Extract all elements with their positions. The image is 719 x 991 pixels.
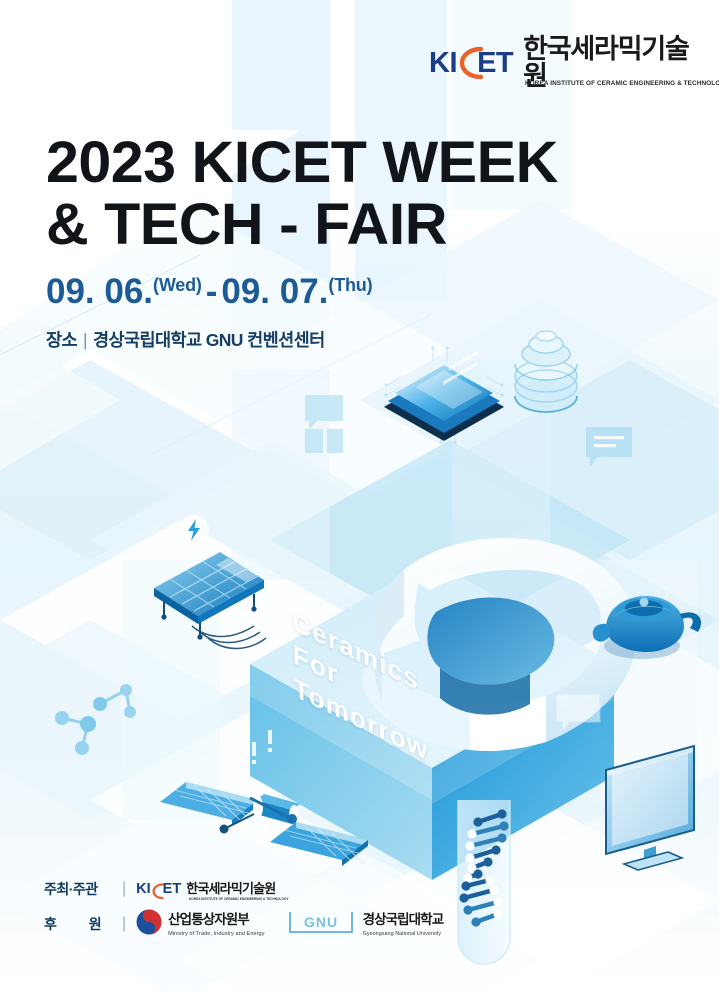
gnu-english: Gyeongsang National University bbox=[363, 931, 444, 937]
sponsor-footer: 주최·주관 | KI ET 한국세라믹기술원 KOREA INSTITUTE O… bbox=[44, 872, 684, 941]
motie-korean: 산업통상자원부 bbox=[168, 912, 249, 927]
kicet-logo: KI ET 한국세라믹기술원 KOREA INSTITUTE OF CERAMI… bbox=[429, 48, 691, 94]
kicet-footer-korean: 한국세라믹기술원 bbox=[186, 881, 275, 896]
kicet-logo-c-arc bbox=[457, 46, 480, 80]
motie-english: Ministry of Trade, Industry and Energy bbox=[168, 931, 264, 937]
kicet-logo-ki: KI bbox=[429, 49, 457, 78]
venue-line: 장소|경상국립대학교 GNU 컨벤션센터 bbox=[46, 327, 325, 352]
headline-line-1: 2023 KICET WEEK bbox=[46, 132, 699, 194]
date-dash: - bbox=[202, 272, 222, 311]
footer-separator-sponsor: | bbox=[122, 915, 126, 933]
date-end: 09. 07. bbox=[221, 272, 328, 311]
taegeuk-icon bbox=[136, 909, 162, 940]
poster-canvas: KI ET 한국세라믹기술원 KOREA INSTITUTE OF CERAMI… bbox=[0, 0, 719, 991]
gnu-mark-icon: GNU bbox=[287, 909, 355, 940]
date-end-day: (Thu) bbox=[328, 275, 372, 295]
gnu-logo: GNU 경상국립대학교 Gyeongsang National Universi… bbox=[287, 909, 444, 940]
kicet-logo-english: KOREA INSTITUTE OF CERAMIC ENGINEERING &… bbox=[525, 80, 691, 87]
venue-label: 장소 bbox=[46, 330, 77, 350]
gnu-korean: 경상국립대학교 bbox=[363, 912, 444, 927]
kicet-footer-logo: KI ET 한국세라믹기술원 bbox=[136, 880, 275, 898]
date-start: 09. 06. bbox=[46, 272, 153, 311]
svg-text:GNU: GNU bbox=[304, 914, 338, 930]
headline-line-2: & TECH - FAIR bbox=[46, 194, 699, 256]
venue-separator: | bbox=[77, 330, 93, 350]
footer-label-sponsor: 후 원 bbox=[44, 914, 122, 934]
page-title: 2023 KICET WEEK & TECH - FAIR bbox=[46, 132, 686, 256]
kicet-footer-et: ET bbox=[163, 882, 182, 897]
venue-value: 경상국립대학교 GNU 컨벤션센터 bbox=[93, 330, 325, 350]
lightning-bolt-icon bbox=[179, 515, 209, 545]
footer-label-host: 주최·주관 bbox=[44, 879, 122, 899]
date-start-day: (Wed) bbox=[153, 275, 202, 295]
kicet-footer-c-arc bbox=[151, 881, 164, 898]
event-dates: 09. 06.(Wed)-09. 07.(Thu) bbox=[46, 272, 372, 312]
footer-row-sponsor: 후 원 | 산업통상자원부 Ministry of Trade, Industr… bbox=[44, 907, 684, 941]
motie-logo: 산업통상자원부 Ministry of Trade, Industry and … bbox=[136, 909, 264, 940]
kicet-footer-english: KOREA INSTITUTE OF CERAMIC ENGINEERING &… bbox=[189, 897, 684, 901]
footer-separator-host: | bbox=[122, 880, 126, 898]
kicet-footer-ki: KI bbox=[136, 882, 151, 897]
